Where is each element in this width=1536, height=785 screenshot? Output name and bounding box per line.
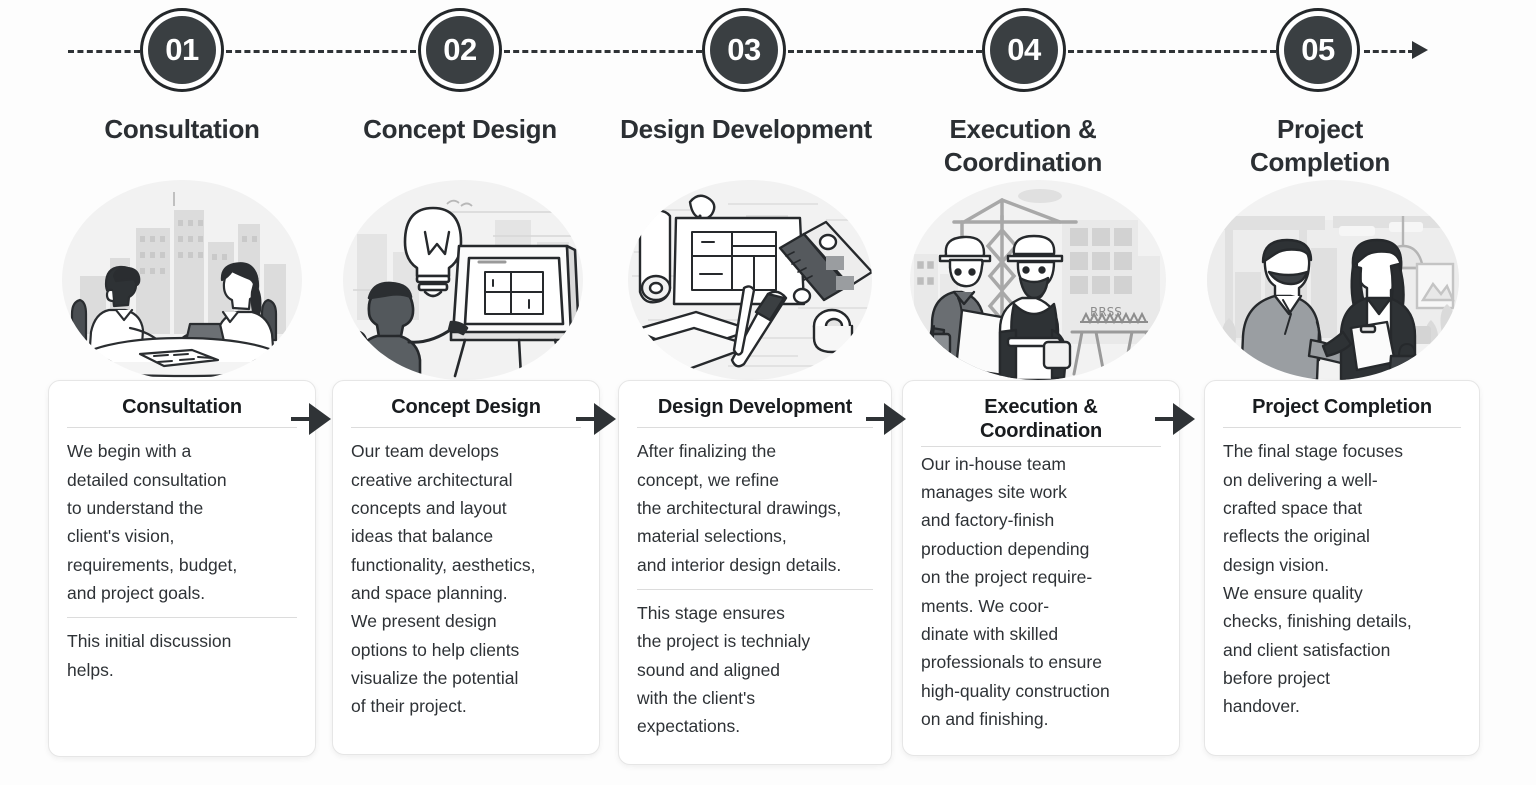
consultation-meeting-illustration: [62, 180, 302, 380]
step-heading-02: Concept Design: [330, 113, 590, 146]
card-title: Project Completion: [1223, 395, 1461, 427]
process-infographic: 01 02 03 04 05 Consultation Concept Desi…: [0, 0, 1536, 785]
card-connector-03-04: [866, 404, 906, 434]
timeline-dash-segment-2: [504, 50, 702, 53]
arrow-right-icon: [309, 403, 331, 435]
project-completion-handshake-illustration: [1207, 180, 1459, 380]
card-divider: [67, 427, 297, 428]
arrow-right-icon: [884, 403, 906, 435]
timeline-node-number: 03: [710, 16, 778, 84]
timeline-node-03[interactable]: 03: [702, 8, 786, 92]
card-body: Our team develops creative architectural…: [351, 437, 581, 720]
step-heading-05: Project Completion: [1202, 113, 1438, 178]
connector-dash: [866, 417, 884, 421]
card-title: Concept Design: [351, 395, 581, 427]
connector-dash: [291, 417, 309, 421]
card-title: Design Development: [637, 395, 873, 427]
timeline-node-number: 04: [990, 16, 1058, 84]
card-divider-secondary: [637, 589, 873, 590]
timeline-node-01[interactable]: 01: [140, 8, 224, 92]
connector-dash: [576, 417, 594, 421]
timeline-dash-segment-1: [226, 50, 416, 53]
timeline-node-05[interactable]: 05: [1276, 8, 1360, 92]
connector-dash: [1155, 417, 1173, 421]
card-body: We begin with a detailed consultation to…: [67, 437, 297, 607]
step-card-03[interactable]: Design Development After finalizing the …: [618, 380, 892, 765]
card-body-secondary: This initial discussion helps.: [67, 627, 297, 684]
arrow-right-icon: [1173, 403, 1195, 435]
card-title: Execution & Coordination: [921, 395, 1161, 446]
execution-coordination-construction-illustration: RRSS: [910, 180, 1166, 380]
step-card-04[interactable]: Execution & Coordination Our in-house te…: [902, 380, 1180, 756]
card-body: After finalizing the concept, we refine …: [637, 437, 873, 579]
step-card-05[interactable]: Project Completion The final stage focus…: [1204, 380, 1480, 756]
card-divider: [1223, 427, 1461, 428]
step-heading-04: Execution & Coordination: [905, 113, 1141, 178]
timeline-node-number: 05: [1284, 16, 1352, 84]
card-divider-secondary: [67, 617, 297, 618]
card-divider: [921, 446, 1161, 447]
timeline-node-number: 01: [148, 16, 216, 84]
timeline-dash-segment-0: [68, 50, 140, 53]
timeline-dash-segment-4: [1068, 50, 1276, 53]
svg-text:RRSS: RRSS: [1090, 305, 1122, 319]
card-connector-04-05: [1155, 404, 1195, 434]
timeline-dash-segment-3: [788, 50, 982, 53]
step-heading-03: Design Development: [614, 113, 878, 146]
step-heading-01: Consultation: [52, 113, 312, 146]
concept-design-lightbulb-illustration: [343, 180, 583, 380]
timeline-node-02[interactable]: 02: [418, 8, 502, 92]
card-connector-02-03: [576, 404, 616, 434]
step-card-02[interactable]: Concept Design Our team develops creativ…: [332, 380, 600, 755]
timeline-node-04[interactable]: 04: [982, 8, 1066, 92]
card-body: The final stage focuses on delivering a …: [1223, 437, 1461, 720]
timeline-track: 01 02 03 04 05: [0, 0, 1536, 100]
card-divider: [351, 427, 581, 428]
arrow-right-icon: [594, 403, 616, 435]
arrow-right-icon: [1412, 41, 1428, 59]
step-card-01[interactable]: Consultation We begin with a detailed co…: [48, 380, 316, 757]
card-body-secondary: This stage ensures the project is techni…: [637, 599, 873, 741]
card-body: Our in-house team manages site work and …: [921, 450, 1161, 733]
timeline-dash-segment-5: [1364, 50, 1414, 53]
card-connector-01-02: [291, 404, 331, 434]
card-divider: [637, 427, 873, 428]
card-title: Consultation: [67, 395, 297, 427]
design-development-blueprint-illustration: [628, 180, 872, 380]
timeline-node-number: 02: [426, 16, 494, 84]
